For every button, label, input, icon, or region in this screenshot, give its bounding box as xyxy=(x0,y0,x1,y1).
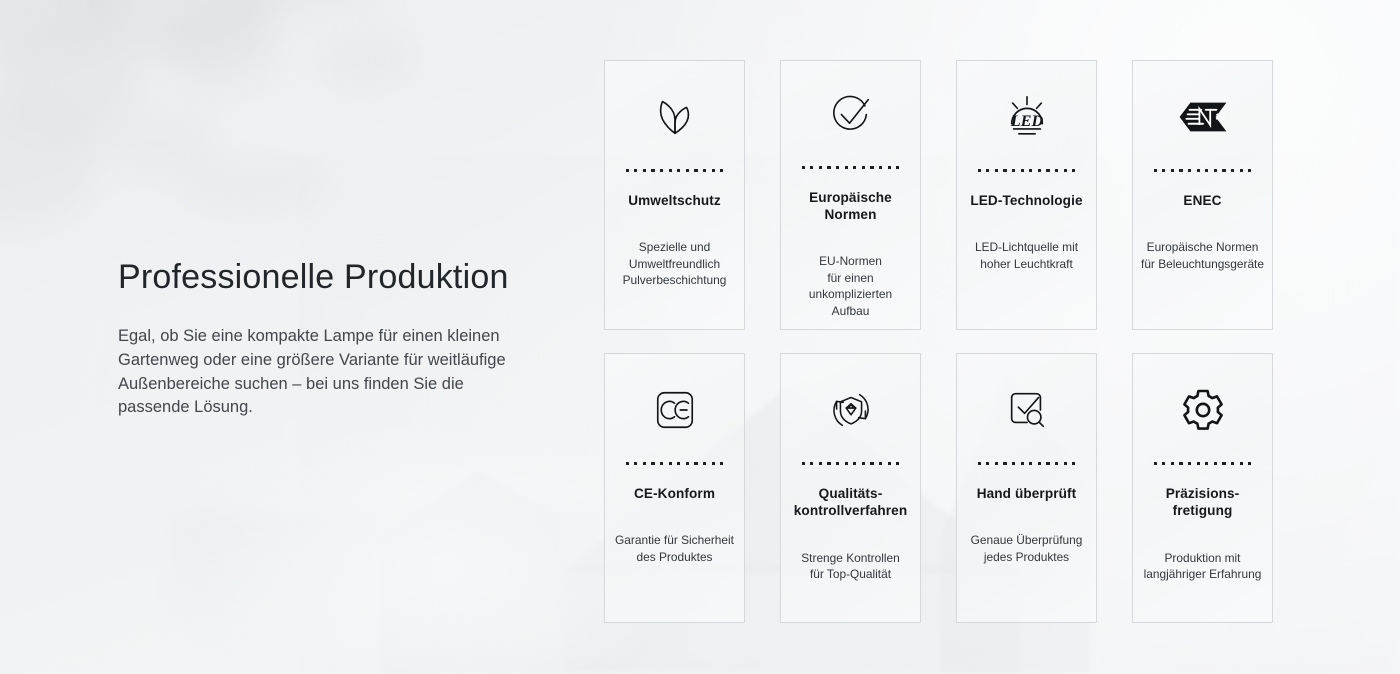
feature-card-praezisionsfertigung[interactable]: Präzisions- fretigung Produktion mit lan… xyxy=(1132,353,1273,623)
dot-divider xyxy=(802,461,900,466)
feature-card-title: ENEC xyxy=(1183,192,1221,209)
checked-document-search-icon xyxy=(1004,385,1050,435)
ce-mark-icon xyxy=(652,385,698,435)
feature-card-title: Europäische Normen xyxy=(788,189,913,224)
dot-divider xyxy=(626,461,724,466)
check-circle-icon xyxy=(828,92,874,139)
led-bulb-icon: LED xyxy=(1002,92,1052,142)
shield-diamond-refresh-icon xyxy=(827,385,875,435)
feature-card-qualitaetskontrolle[interactable]: Qualitäts- kontrollverfahren Strenge Kon… xyxy=(780,353,921,623)
gear-icon xyxy=(1179,385,1227,435)
page-subtitle: Egal, ob Sie eine kompakte Lampe für ein… xyxy=(118,325,518,420)
feature-card-description: Genaue Überprüfung jedes Produktes xyxy=(971,532,1083,565)
feature-card-title: LED-Technologie xyxy=(970,192,1082,209)
feature-card-title: Hand überprüft xyxy=(977,485,1077,502)
led-logo-text: LED xyxy=(1009,111,1043,130)
feature-card-description: LED-Lichtquelle mit hoher Leuchtkraft xyxy=(975,239,1078,272)
dot-divider xyxy=(978,461,1076,466)
feature-card-description: Garantie für Sicherheit des Produktes xyxy=(595,532,755,565)
feature-card-description: Produktion mit langjähriger Erfahrung xyxy=(1123,550,1283,583)
feature-card-title: Umweltschutz xyxy=(628,192,721,209)
leaves-icon xyxy=(652,92,698,142)
dot-divider xyxy=(1154,461,1252,466)
dot-divider xyxy=(1154,168,1252,173)
page-title: Professionelle Produktion xyxy=(118,258,548,297)
dot-divider xyxy=(626,168,724,173)
feature-card-umweltschutz[interactable]: Umweltschutz Spezielle und Umweltfreundl… xyxy=(604,60,745,330)
feature-card-title: Qualitäts- kontrollverfahren xyxy=(788,485,913,520)
feature-card-ce-konform[interactable]: CE-Konform Garantie für Sicherheit des P… xyxy=(604,353,745,623)
feature-card-title: Präzisions- fretigung xyxy=(1140,485,1265,520)
feature-card-description: Spezielle und Umweltfreundlich Pulverbes… xyxy=(623,239,727,288)
feature-card-description: Strenge Kontrollen für Top-Qualität xyxy=(801,550,900,583)
feature-card-hand-ueberprueft[interactable]: Hand überprüft Genaue Überprüfung jedes … xyxy=(956,353,1097,623)
feature-card-description: Europäische Normen für Beleuchtungsgerät… xyxy=(1123,239,1283,272)
dot-divider xyxy=(802,165,900,170)
feature-card-europaeische-normen[interactable]: Europäische Normen EU-Normen für einen u… xyxy=(780,60,921,330)
feature-card-enec[interactable]: 25 ENEC Europäische Normen für Beleuchtu… xyxy=(1132,60,1273,330)
feature-card-title: CE-Konform xyxy=(634,485,715,502)
enec-mark-number: 25 xyxy=(1215,113,1224,122)
feature-cards-grid: Umweltschutz Spezielle und Umweltfreundl… xyxy=(604,60,1274,622)
feature-card-led-technologie[interactable]: LED LED-Technologie LED-Lichtquelle mit … xyxy=(956,60,1097,330)
enec-logo-icon: 25 xyxy=(1176,92,1230,142)
dot-divider xyxy=(978,168,1076,173)
intro-text-block: Professionelle Produktion Egal, ob Sie e… xyxy=(118,258,548,420)
feature-card-description: EU-Normen für einen unkomplizierten Aufb… xyxy=(809,253,892,319)
